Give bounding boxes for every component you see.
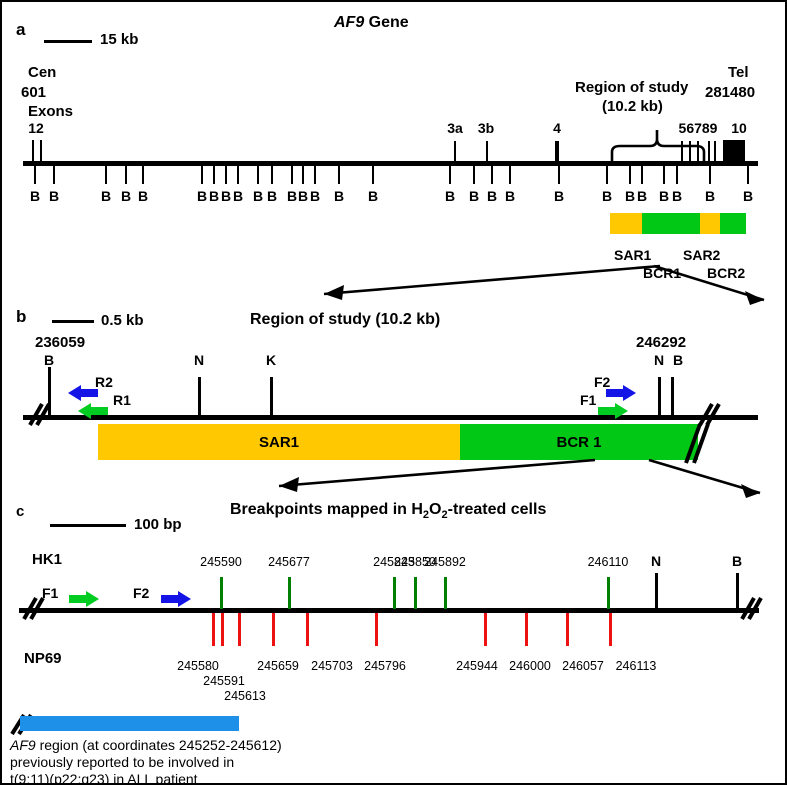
exon-label-12: 12 <box>28 120 44 136</box>
np69-tick-245796 <box>375 613 378 646</box>
hk1-coordinate-245677: 245677 <box>268 555 310 569</box>
expansion-arrow-left-ab <box>302 264 662 304</box>
exon-tick-5 <box>681 141 683 162</box>
figure-root: a AF9 Gene 15 kb Cen 601 Exons Tel 28148… <box>0 0 787 785</box>
restriction-tick-10 <box>271 165 273 184</box>
exon-label-4: 4 <box>553 120 561 136</box>
panel-a-title-rest: Gene <box>364 14 408 31</box>
panel-a-scalebar <box>44 40 92 43</box>
panel-b-tick-N-right <box>658 377 661 417</box>
hk1-tick-245892 <box>444 577 447 609</box>
restriction-label-27: B <box>743 188 753 204</box>
np69-tick-245591 <box>221 613 224 646</box>
region-of-study-size-a: (10.2 kb) <box>602 98 663 115</box>
restriction-tick-14 <box>338 165 340 184</box>
restriction-label-22: B <box>625 188 635 204</box>
np69-coordinate-246057: 246057 <box>562 659 604 673</box>
panel-c-title-mid: O <box>429 501 441 518</box>
restriction-label-21: B <box>602 188 612 204</box>
panel-c-title-pre: Breakpoints mapped in H <box>230 501 423 518</box>
panel-b-site-label-2-K: K <box>266 352 276 368</box>
np69-tick-245580 <box>212 613 215 646</box>
panel-c-tick-B <box>736 573 739 609</box>
restriction-label-25: B <box>672 188 682 204</box>
af9-region-bar <box>20 716 239 731</box>
panel-b-bar-bcr1: BCR 1 <box>460 424 698 460</box>
restriction-tick-13 <box>314 165 316 184</box>
panel-b-primer-label-r2: R2 <box>95 374 113 390</box>
hk1-tick-245677 <box>288 577 291 609</box>
restriction-tick-24 <box>663 165 665 184</box>
panel-b-right-coordinate: 246292 <box>636 334 686 351</box>
restriction-tick-26 <box>709 165 711 184</box>
restriction-label-4: B <box>138 188 148 204</box>
hk1-label: HK1 <box>32 551 62 568</box>
np69-coordinate-245580: 245580 <box>177 659 219 673</box>
panel-c-axis <box>19 608 759 613</box>
np69-tick-245703 <box>306 613 309 646</box>
np69-tick-246000 <box>525 613 528 646</box>
exon-label-3b: 3b <box>478 120 494 136</box>
exon-tick-3b <box>486 141 488 162</box>
panel-a-scale-label: 15 kb <box>100 31 138 48</box>
exon-tick-7 <box>697 141 699 162</box>
restriction-label-26: B <box>705 188 715 204</box>
restriction-tick-7 <box>225 165 227 184</box>
panel-b-scalebar <box>52 320 94 323</box>
cen-label: Cen <box>28 64 56 81</box>
exon-tick-8 <box>708 141 710 162</box>
footnote-line-2: previously reported to be involved in <box>10 754 234 770</box>
restriction-label-2: B <box>101 188 111 204</box>
region-bar-bcr2 <box>720 213 746 234</box>
restriction-tick-20 <box>558 165 560 184</box>
np69-coordinate-245659: 245659 <box>257 659 299 673</box>
panel-b-primer-arrow-r1 <box>78 402 112 420</box>
panel-b-bar-label-bcr1: BCR 1 <box>556 434 601 451</box>
panel-b-axis <box>23 415 758 420</box>
panel-b-primer-label-f1: F1 <box>580 392 596 408</box>
panel-c-primer-arrow-f2 <box>157 590 191 608</box>
restriction-tick-9 <box>257 165 259 184</box>
panel-b-bar-label-sar1: SAR1 <box>259 434 299 451</box>
np69-coordinate-245944: 245944 <box>456 659 498 673</box>
panel-b-site-label-0-B: B <box>44 352 54 368</box>
break-mark-right-c <box>738 596 766 622</box>
panel-b-primer-label-r1: R1 <box>113 392 131 408</box>
hk1-tick-245850 <box>414 577 417 609</box>
panel-b-scale-label: 0.5 kb <box>101 312 144 329</box>
panel-c-title: Breakpoints mapped in H2O2-treated cells <box>230 501 546 521</box>
restriction-label-16: B <box>445 188 455 204</box>
np69-coordinate-245591: 245591 <box>203 674 245 688</box>
restriction-tick-1 <box>53 165 55 184</box>
restriction-tick-11 <box>291 165 293 184</box>
hk1-coordinate-245892: 245892 <box>424 555 466 569</box>
restriction-tick-4 <box>142 165 144 184</box>
exon-tick-3a <box>454 141 456 162</box>
panel-b-site-label-1-N: N <box>194 352 204 368</box>
np69-coordinate-246113: 246113 <box>616 659 657 673</box>
cen-coordinate: 601 <box>21 84 46 101</box>
panel-a-title: AF9 Gene <box>334 14 409 32</box>
region-bar-bcr1 <box>642 213 700 234</box>
restriction-label-1: B <box>49 188 59 204</box>
region-bar-label-sar2: SAR2 <box>683 247 720 263</box>
exon-tick-6 <box>689 141 691 162</box>
restriction-label-23: B <box>637 188 647 204</box>
restriction-tick-8 <box>237 165 239 184</box>
restriction-tick-17 <box>473 165 475 184</box>
exon-label-56789: 56789 <box>679 120 718 136</box>
panel-b-tick-B-left <box>48 367 51 417</box>
restriction-label-5: B <box>197 188 207 204</box>
footnote-line-1: AF9 region (at coordinates 245252-245612… <box>10 737 282 753</box>
footnote-gene-name: AF9 <box>10 737 36 753</box>
panel-c-scalebar <box>50 524 126 527</box>
restriction-tick-12 <box>302 165 304 184</box>
restriction-tick-3 <box>125 165 127 184</box>
panel-c-tick-N <box>655 573 658 609</box>
restriction-label-17: B <box>469 188 479 204</box>
restriction-tick-19 <box>509 165 511 184</box>
restriction-label-13: B <box>310 188 320 204</box>
restriction-tick-6 <box>213 165 215 184</box>
panel-c-primer-label-f2: F2 <box>133 585 149 601</box>
hk1-tick-246110 <box>607 577 610 609</box>
exon-tick-9 <box>714 141 716 162</box>
restriction-tick-16 <box>449 165 451 184</box>
restriction-label-19: B <box>505 188 515 204</box>
region-bar-sar2 <box>700 213 720 234</box>
restriction-tick-5 <box>201 165 203 184</box>
restriction-label-6: B <box>209 188 219 204</box>
restriction-tick-25 <box>676 165 678 184</box>
panel-c-scale-label: 100 bp <box>134 516 182 533</box>
hk1-coordinate-245590: 245590 <box>200 555 242 569</box>
panel-b-bar-sar1: SAR1 <box>98 424 460 460</box>
panel-b-tick-N <box>198 377 201 417</box>
np69-tick-245659 <box>272 613 275 646</box>
panel-b-left-coordinate: 236059 <box>35 334 85 351</box>
hk1-coordinate-246110: 246110 <box>588 555 629 569</box>
restriction-label-12: B <box>298 188 308 204</box>
exon-tick-4 <box>555 141 559 162</box>
exon-box-10 <box>723 140 745 162</box>
restriction-tick-21 <box>606 165 608 184</box>
np69-coordinate-245796: 245796 <box>364 659 406 673</box>
restriction-label-24: B <box>659 188 669 204</box>
exon-label-3a: 3a <box>447 120 463 136</box>
exon-tick-1 <box>32 140 34 162</box>
restriction-label-20: B <box>554 188 564 204</box>
tel-coordinate: 281480 <box>705 84 755 101</box>
restriction-label-18: B <box>487 188 497 204</box>
restriction-label-14: B <box>334 188 344 204</box>
exon-label-10: 10 <box>731 120 747 136</box>
restriction-tick-27 <box>747 165 749 184</box>
panel-c-site-label-N: N <box>651 553 661 569</box>
restriction-label-15: B <box>368 188 378 204</box>
region-bar-label-sar1: SAR1 <box>614 247 651 263</box>
panel-a-axis <box>23 161 758 166</box>
region-of-study-label-a: Region of study <box>575 79 688 96</box>
np69-coordinate-246000: 246000 <box>509 659 551 673</box>
panel-b-site-label-4-B: B <box>673 352 683 368</box>
restriction-tick-22 <box>629 165 631 184</box>
exon-tick-2 <box>40 140 42 162</box>
panel-c-primer-label-f1: F1 <box>42 585 58 601</box>
hk1-tick-245823 <box>393 577 396 609</box>
restriction-label-0: B <box>30 188 40 204</box>
expansion-arrow-left-bc <box>257 457 597 497</box>
panel-a-title-gene: AF9 <box>334 14 364 31</box>
restriction-label-8: B <box>233 188 243 204</box>
panel-b-letter: b <box>16 307 26 327</box>
panel-a-letter: a <box>16 20 25 40</box>
panel-c-title-post: -treated cells <box>448 501 547 518</box>
restriction-label-3: B <box>121 188 131 204</box>
restriction-label-7: B <box>221 188 231 204</box>
panel-c-primer-arrow-f1 <box>65 590 99 608</box>
restriction-label-10: B <box>267 188 277 204</box>
exons-label: Exons <box>28 103 73 120</box>
panel-b-primer-arrow-f1 <box>594 402 628 420</box>
panel-b-primer-label-f2: F2 <box>594 374 610 390</box>
panel-b-tick-K <box>270 377 273 417</box>
np69-tick-246057 <box>566 613 569 646</box>
restriction-tick-15 <box>372 165 374 184</box>
restriction-label-9: B <box>253 188 263 204</box>
restriction-tick-2 <box>105 165 107 184</box>
np69-tick-246113 <box>609 613 612 646</box>
restriction-tick-0 <box>34 165 36 184</box>
np69-coordinate-245703: 245703 <box>311 659 353 673</box>
restriction-tick-18 <box>491 165 493 184</box>
region-bar-sar1 <box>610 213 642 234</box>
panel-b-tick-B-right <box>671 377 674 417</box>
restriction-tick-23 <box>641 165 643 184</box>
footnote-line-3: t(9;11)(p22;q23) in ALL patient <box>10 771 198 785</box>
np69-label: NP69 <box>24 650 62 667</box>
np69-coordinate-245613: 245613 <box>224 689 266 703</box>
np69-tick-245613 <box>238 613 241 646</box>
tel-label: Tel <box>728 64 749 81</box>
panel-b-title: Region of study (10.2 kb) <box>250 311 440 329</box>
panel-c-site-label-B: B <box>732 553 742 569</box>
expansion-arrow-right-bc <box>647 457 777 501</box>
panel-c-letter: c <box>16 503 24 520</box>
panel-b-site-label-3-N: N <box>654 352 664 368</box>
footnote-line-1-rest: region (at coordinates 245252-245612) <box>36 737 282 753</box>
restriction-label-11: B <box>287 188 297 204</box>
hk1-tick-245590 <box>220 577 223 609</box>
np69-tick-245944 <box>484 613 487 646</box>
expansion-arrow-right-ab <box>652 264 777 308</box>
